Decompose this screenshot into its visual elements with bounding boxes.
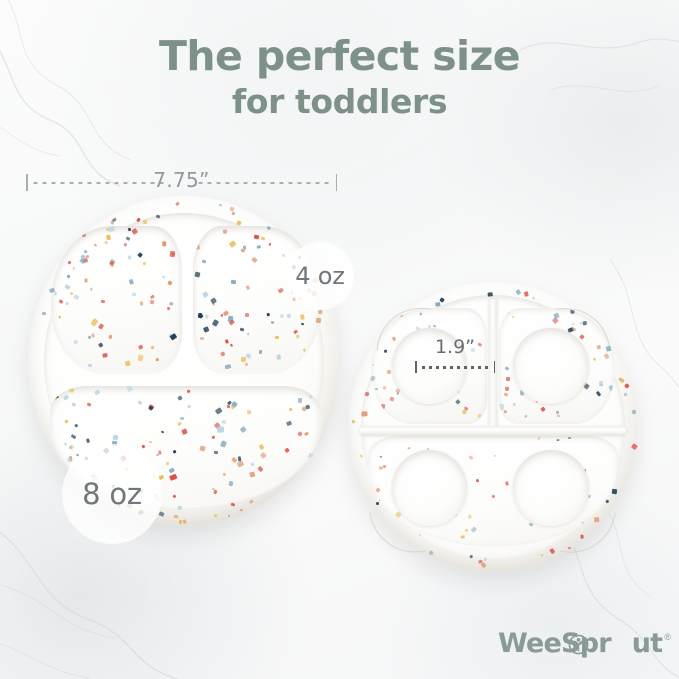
confetti-speck bbox=[88, 336, 92, 340]
confetti-speck bbox=[492, 494, 496, 498]
confetti-speck bbox=[468, 514, 472, 518]
confetti-speck bbox=[288, 407, 292, 411]
confetti-speck bbox=[568, 437, 571, 439]
confetti-speck bbox=[158, 451, 161, 455]
confetti-speck bbox=[244, 313, 248, 317]
confetti-speck bbox=[279, 313, 285, 319]
confetti-speck bbox=[87, 364, 91, 367]
sprout-icon bbox=[568, 634, 589, 655]
confetti-speck bbox=[172, 449, 176, 453]
confetti-speck bbox=[174, 515, 178, 519]
confetti-speck bbox=[225, 339, 229, 344]
confetti-speck bbox=[169, 302, 173, 305]
confetti-speck bbox=[149, 299, 154, 304]
confetti-speck bbox=[596, 345, 600, 349]
confetti-speck bbox=[296, 334, 299, 338]
confetti-speck bbox=[68, 446, 71, 449]
confetti-speck bbox=[220, 440, 227, 447]
underside-divider-horizontal bbox=[360, 426, 627, 435]
plate-width-label: 7.75” bbox=[148, 168, 214, 192]
confetti-speck bbox=[503, 410, 506, 413]
confetti-speck bbox=[221, 419, 227, 424]
confetti-speck bbox=[137, 252, 143, 258]
confetti-speck bbox=[130, 278, 135, 284]
confetti-speck bbox=[101, 299, 105, 302]
confetti-speck bbox=[468, 455, 472, 459]
confetti-speck bbox=[267, 313, 270, 316]
registered-trademark-symbol: ® bbox=[664, 632, 671, 642]
confetti-speck bbox=[54, 292, 58, 296]
confetti-speck bbox=[435, 302, 440, 307]
marble-vein-top-right bbox=[520, 0, 679, 190]
confetti-speck bbox=[108, 334, 113, 339]
confetti-speck bbox=[240, 426, 246, 432]
confetti-speck bbox=[105, 241, 108, 244]
plate-underside-suction-view bbox=[348, 282, 638, 572]
confetti-speck bbox=[140, 301, 143, 305]
capacity-badge-8oz: 8 oz bbox=[62, 444, 162, 544]
confetti-speck bbox=[375, 387, 378, 389]
product-image-canvas: The perfect size for toddlers 7.75” bbox=[0, 0, 679, 679]
confetti-speck bbox=[300, 314, 305, 319]
cup-dimension-dotted-line bbox=[420, 366, 490, 369]
confetti-speck bbox=[503, 392, 508, 397]
confetti-speck bbox=[179, 417, 183, 421]
confetti-speck bbox=[161, 276, 165, 280]
confetti-speck bbox=[151, 346, 154, 350]
confetti-speck bbox=[223, 473, 227, 477]
confetti-speck bbox=[318, 310, 322, 314]
confetti-speck bbox=[512, 316, 515, 319]
confetti-speck bbox=[252, 257, 259, 263]
confetti-speck bbox=[254, 234, 260, 239]
confetti-speck bbox=[74, 424, 78, 427]
confetti-speck bbox=[66, 302, 69, 305]
confetti-speck bbox=[372, 363, 375, 366]
confetti-speck bbox=[198, 313, 204, 319]
suction-cup-bottom-left bbox=[392, 450, 467, 525]
confetti-speck bbox=[245, 362, 249, 366]
confetti-speck bbox=[220, 351, 225, 356]
confetti-speck bbox=[141, 444, 145, 448]
confetti-speck bbox=[250, 472, 256, 478]
confetti-speck bbox=[477, 343, 481, 347]
confetti-speck bbox=[309, 453, 313, 457]
confetti-speck bbox=[256, 245, 261, 249]
confetti-speck bbox=[506, 312, 509, 315]
dimension-end-cap-right bbox=[336, 174, 338, 191]
confetti-speck bbox=[70, 434, 76, 439]
confetti-speck bbox=[200, 446, 206, 453]
suction-cup-top-right bbox=[513, 328, 588, 403]
confetti-speck bbox=[231, 457, 237, 463]
confetti-speck bbox=[605, 499, 609, 503]
confetti-speck bbox=[275, 336, 279, 339]
confetti-speck bbox=[73, 294, 79, 299]
confetti-speck bbox=[260, 452, 267, 459]
dimension-dotted-line-left bbox=[31, 182, 167, 184]
confetti-speck bbox=[156, 214, 161, 218]
confetti-speck bbox=[225, 364, 232, 370]
suction-cup-width-label: 1.9” bbox=[435, 336, 475, 358]
confetti-speck bbox=[257, 465, 263, 471]
confetti-speck bbox=[609, 385, 614, 391]
confetti-speck bbox=[537, 437, 540, 440]
confetti-speck bbox=[202, 291, 209, 298]
confetti-speck bbox=[524, 414, 527, 418]
confetti-speck bbox=[215, 407, 223, 415]
confetti-speck bbox=[187, 389, 191, 393]
confetti-speck bbox=[380, 456, 383, 459]
confetti-speck bbox=[59, 390, 62, 394]
confetti-speck bbox=[69, 292, 73, 296]
compartment-top-left bbox=[51, 226, 182, 375]
confetti-speck bbox=[128, 255, 131, 259]
confetti-speck bbox=[72, 402, 76, 406]
confetti-speck bbox=[137, 400, 142, 405]
confetti-speck bbox=[231, 280, 236, 284]
confetti-speck bbox=[181, 428, 188, 434]
confetti-speck bbox=[297, 398, 302, 403]
confetti-speck bbox=[228, 481, 233, 486]
cup-dimension-end-cap-right bbox=[494, 361, 496, 373]
confetti-speck bbox=[132, 292, 137, 296]
confetti-speck bbox=[580, 534, 584, 538]
confetti-speck bbox=[73, 339, 78, 344]
dimension-dotted-line-right bbox=[196, 182, 332, 184]
confetti-speck bbox=[128, 227, 131, 230]
dimension-end-cap-left bbox=[26, 174, 28, 191]
capacity-badge-8oz-label: 8 oz bbox=[82, 477, 142, 511]
confetti-speck bbox=[505, 481, 509, 486]
confetti-speck bbox=[84, 279, 87, 283]
confetti-speck bbox=[124, 360, 131, 367]
confetti-speck bbox=[287, 313, 292, 318]
confetti-speck bbox=[68, 387, 74, 393]
confetti-speck bbox=[67, 260, 71, 264]
confetti-speck bbox=[524, 291, 529, 296]
confetti-speck bbox=[148, 405, 153, 410]
confetti-speck bbox=[301, 470, 308, 477]
confetti-speck bbox=[247, 332, 250, 335]
confetti-speck bbox=[246, 285, 250, 289]
confetti-speck bbox=[131, 227, 138, 234]
confetti-speck bbox=[229, 344, 232, 347]
confetti-speck bbox=[499, 403, 504, 410]
confetti-speck bbox=[300, 323, 304, 326]
confetti-speck bbox=[103, 353, 108, 358]
confetti-speck bbox=[217, 427, 224, 433]
confetti-speck bbox=[86, 402, 91, 407]
confetti-speck bbox=[308, 395, 312, 399]
confetti-speck bbox=[188, 405, 191, 408]
confetti-speck bbox=[204, 326, 210, 332]
confetti-speck bbox=[173, 494, 177, 498]
confetti-speck bbox=[108, 226, 115, 232]
confetti-speck bbox=[161, 431, 165, 434]
confetti-speck bbox=[90, 287, 93, 290]
confetti-speck bbox=[126, 386, 133, 393]
confetti-speck bbox=[231, 405, 235, 409]
capacity-badge-4oz-label: 4 oz bbox=[295, 262, 344, 290]
confetti-speck bbox=[557, 439, 560, 442]
confetti-speck bbox=[277, 287, 283, 293]
confetti-speck bbox=[83, 250, 87, 254]
plate-width-dimension: 7.75” bbox=[26, 174, 337, 192]
confetti-speck bbox=[239, 327, 243, 331]
confetti-speck bbox=[461, 535, 465, 539]
confetti-speck bbox=[304, 348, 307, 351]
confetti-speck bbox=[247, 410, 251, 414]
confetti-speck bbox=[124, 243, 127, 246]
confetti-speck bbox=[259, 444, 265, 451]
confetti-speck bbox=[202, 259, 207, 263]
confetti-speck bbox=[309, 470, 313, 474]
confetti-speck bbox=[58, 315, 61, 319]
confetti-speck bbox=[251, 462, 255, 466]
confetti-speck bbox=[228, 240, 236, 248]
confetti-speck bbox=[97, 323, 103, 330]
confetti-speck bbox=[155, 358, 158, 361]
confetti-speck bbox=[532, 297, 535, 300]
confetti-speck bbox=[163, 241, 167, 246]
confetti-speck bbox=[241, 248, 245, 252]
confetti-speck bbox=[212, 319, 219, 326]
confetti-speck bbox=[167, 307, 171, 311]
confetti-speck bbox=[194, 272, 200, 278]
confetti-speck bbox=[200, 337, 204, 340]
confetti-speck bbox=[170, 474, 178, 481]
confetti-speck bbox=[91, 333, 95, 338]
confetti-speck bbox=[289, 494, 292, 497]
confetti-speck bbox=[214, 490, 218, 494]
confetti-speck bbox=[126, 236, 131, 241]
cup-dimension-end-cap-left bbox=[415, 361, 417, 373]
confetti-speck bbox=[230, 502, 234, 506]
suction-cup-dimension: 1.9” bbox=[415, 360, 495, 374]
confetti-speck bbox=[167, 280, 172, 285]
confetti-speck bbox=[94, 389, 100, 395]
confetti-speck bbox=[170, 333, 178, 341]
confetti-speck bbox=[229, 319, 235, 325]
confetti-speck bbox=[195, 244, 200, 250]
confetti-speck bbox=[380, 404, 385, 410]
confetti-speck bbox=[138, 355, 144, 362]
confetti-speck bbox=[470, 527, 476, 533]
confetti-speck bbox=[464, 529, 468, 533]
confetti-speck bbox=[54, 254, 60, 260]
brand-name-part-1: WeeSpr bbox=[498, 630, 611, 657]
confetti-speck bbox=[240, 357, 246, 363]
confetti-speck bbox=[212, 435, 215, 439]
confetti-speck bbox=[177, 421, 182, 426]
confetti-speck bbox=[284, 447, 290, 452]
confetti-speck bbox=[150, 294, 155, 299]
confetti-speck bbox=[286, 421, 292, 427]
confetti-speck bbox=[149, 441, 152, 444]
confetti-speck bbox=[297, 431, 303, 436]
confetti-speck bbox=[237, 460, 245, 467]
confetti-speck bbox=[301, 406, 306, 411]
confetti-speck bbox=[67, 458, 71, 462]
confetti-speck bbox=[214, 451, 218, 455]
confetti-speck bbox=[63, 395, 69, 400]
confetti-speck bbox=[267, 226, 270, 230]
confetti-speck bbox=[138, 344, 143, 349]
confetti-speck bbox=[169, 467, 175, 473]
confetti-speck bbox=[196, 235, 201, 241]
confetti-speck bbox=[594, 517, 600, 522]
confetti-speck bbox=[259, 350, 263, 354]
confetti-speck bbox=[271, 321, 274, 324]
brand-name-part-2: ut bbox=[632, 630, 663, 657]
confetti-speck bbox=[475, 479, 479, 483]
capacity-badge-4oz: 4 oz bbox=[286, 242, 354, 310]
confetti-speck bbox=[166, 462, 169, 466]
brand-logo: WeeSpr ut ® bbox=[498, 630, 671, 657]
confetti-speck bbox=[276, 355, 281, 361]
confetti-speck bbox=[170, 250, 176, 256]
confetti-speck bbox=[307, 481, 310, 484]
confetti-speck bbox=[64, 420, 68, 424]
confetti-speck bbox=[86, 438, 90, 443]
confetti-speck bbox=[177, 395, 182, 400]
confetti-speck bbox=[223, 230, 227, 234]
confetti-speck bbox=[362, 411, 368, 416]
suction-cup-bottom-right bbox=[513, 450, 588, 525]
confetti-speck bbox=[205, 314, 208, 318]
confetti-speck bbox=[494, 454, 496, 457]
confetti-speck bbox=[306, 405, 311, 410]
confetti-speck bbox=[99, 343, 104, 348]
confetti-speck bbox=[90, 318, 98, 327]
confetti-speck bbox=[246, 353, 252, 359]
confetti-speck bbox=[82, 232, 87, 237]
confetti-speck bbox=[143, 262, 147, 266]
